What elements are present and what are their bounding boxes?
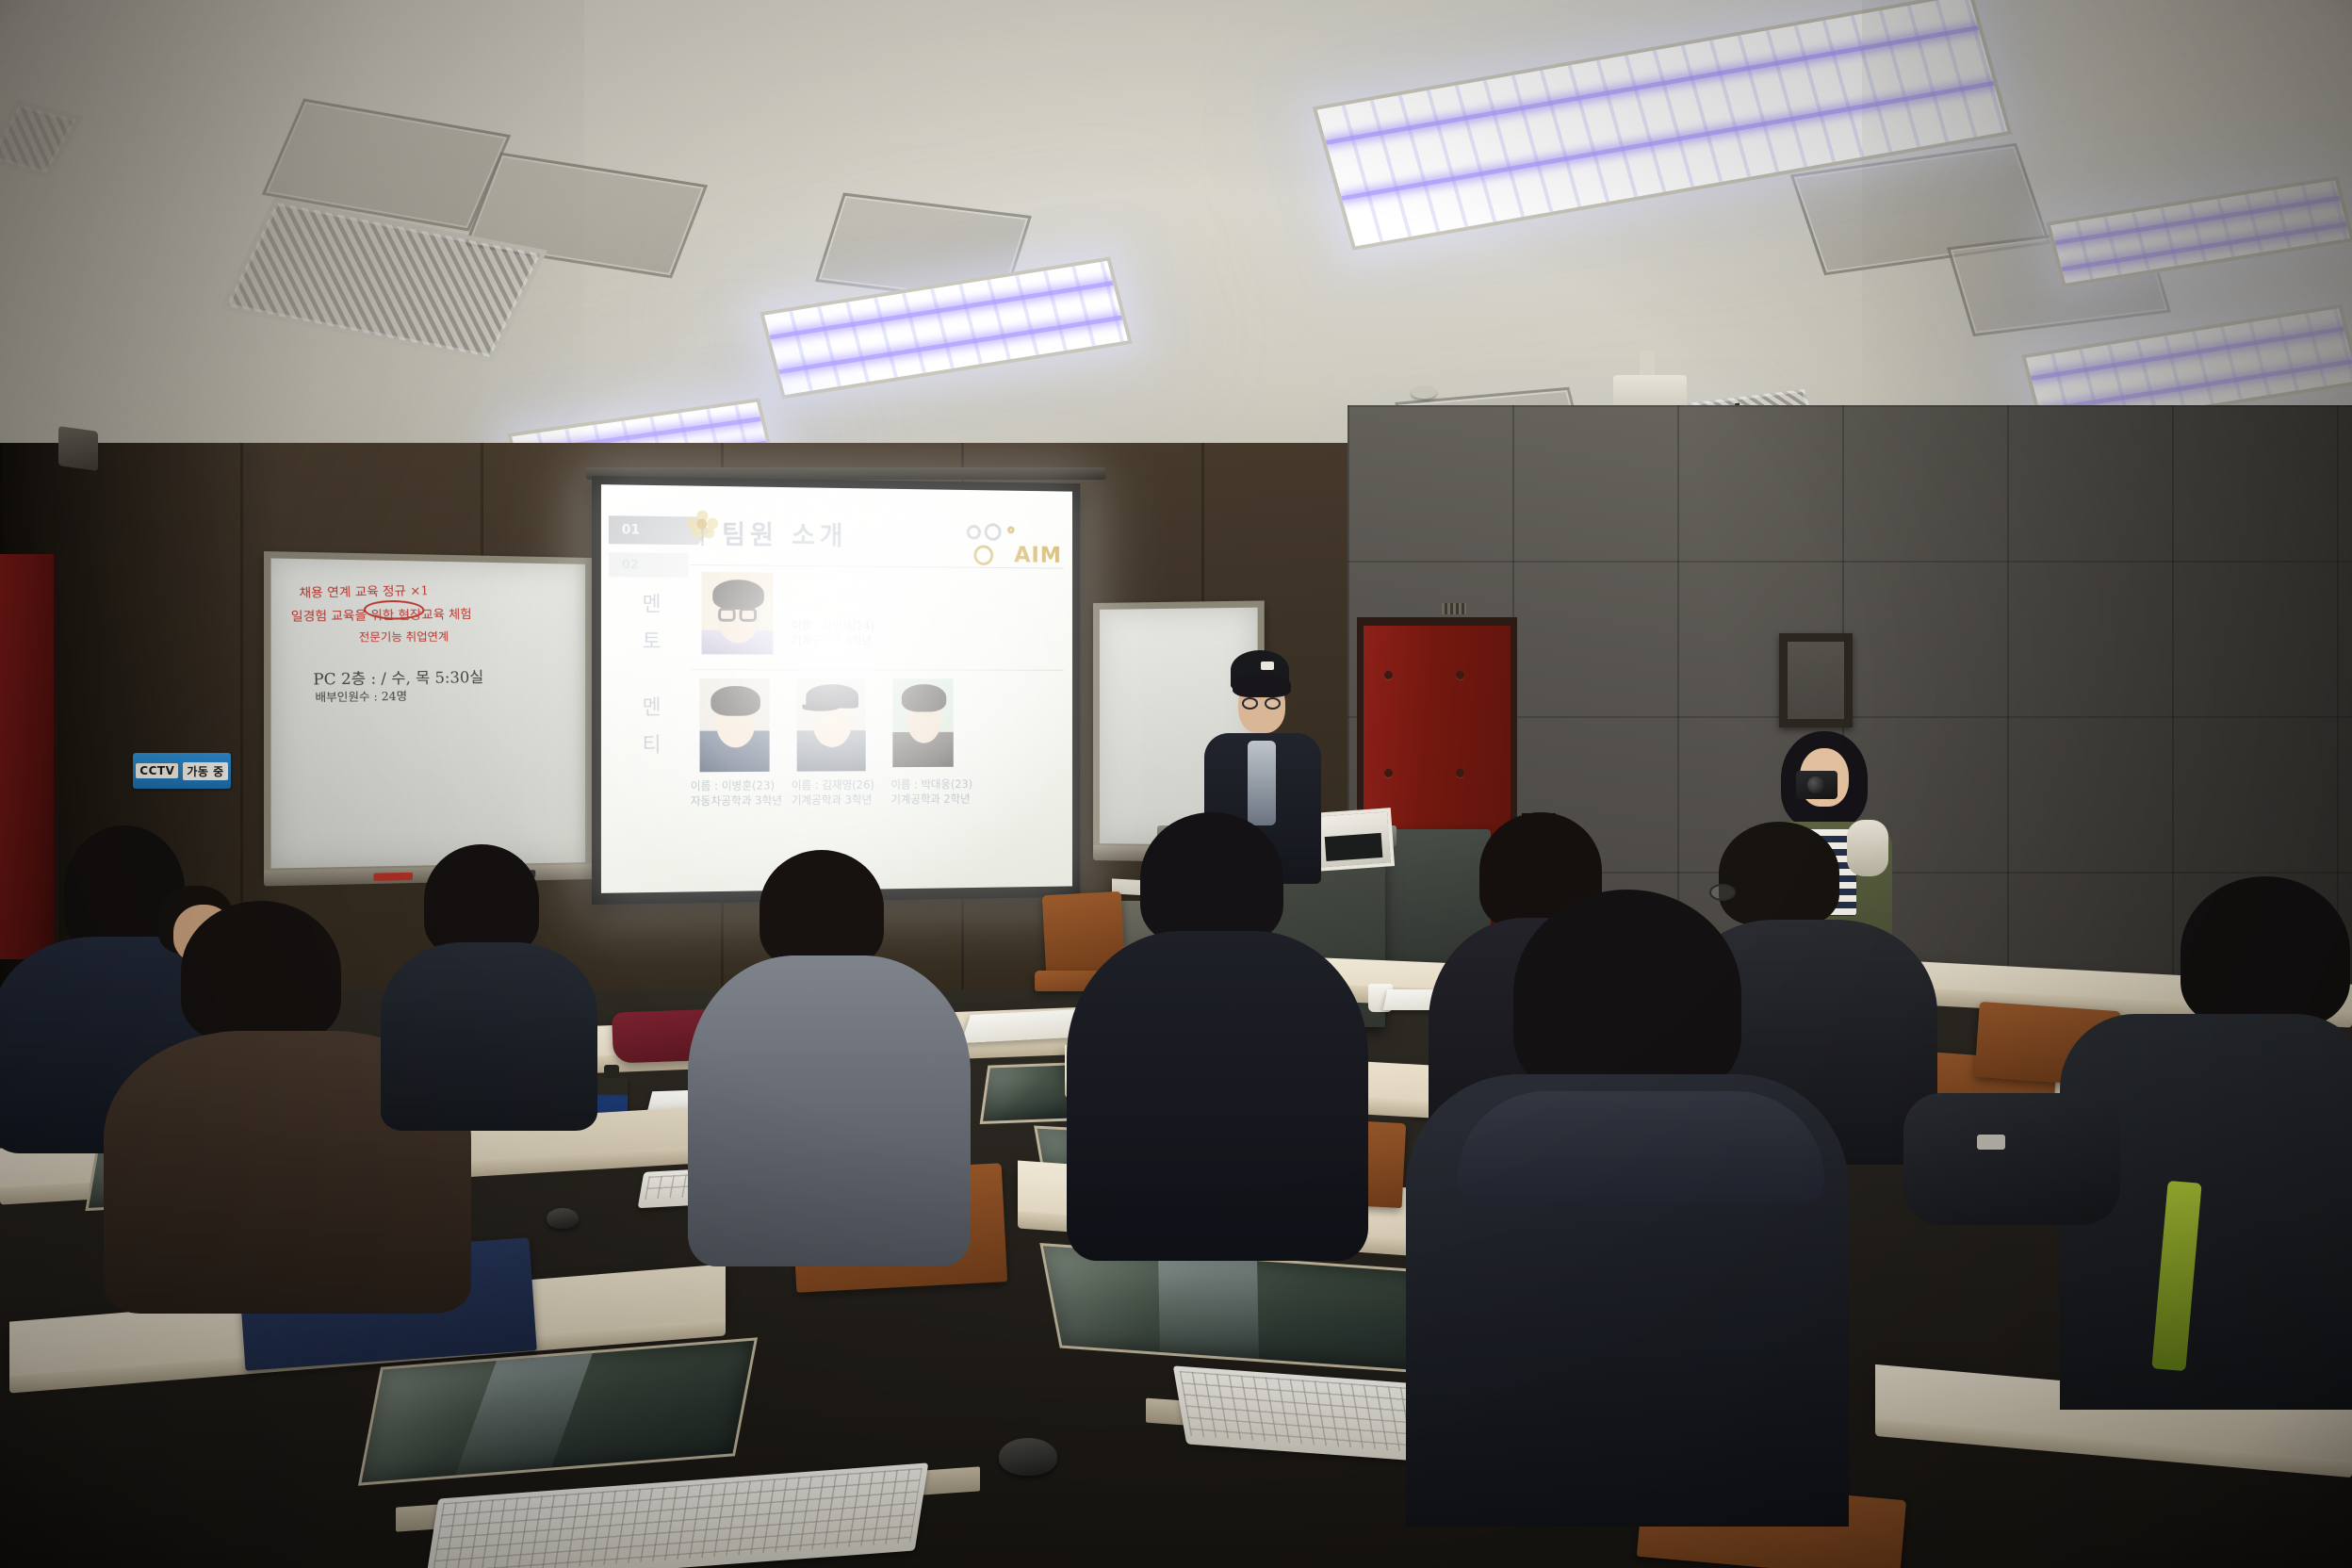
- slide-section-number: 01: [622, 522, 640, 537]
- mentor-dept: 기계공학과 3학년: [792, 634, 874, 649]
- mentee-name-1: 이름 : 이병훈(23): [691, 779, 782, 794]
- presenter-inner-shirt: [1248, 741, 1276, 825]
- mentee-name-3: 이름 : 박대웅(23): [890, 777, 972, 792]
- whiteboard-red-line-3: 전문기능 취업연계: [359, 629, 449, 645]
- door-left[interactable]: [0, 554, 58, 959]
- audience-hair: [759, 850, 884, 967]
- mentor-photo: [702, 572, 774, 654]
- slide-section-number-next: 02: [622, 558, 639, 572]
- audience-torso: [1067, 931, 1368, 1261]
- beanie-logo-tag: [1261, 661, 1274, 670]
- slide-section-tab: 01: [609, 515, 698, 545]
- cctv-sign: CCTV 가동 중: [133, 753, 231, 789]
- audience-arm: [1903, 1093, 2120, 1225]
- classroom-photo: CCTV 가동 중 채용 연계 교육 정규 ×1 일경험 교육을 위한 현장교육…: [0, 0, 2352, 1568]
- glasses-icon: [1709, 884, 1736, 901]
- whiteboard-dark-line-2: 배부인원수 : 24명: [315, 688, 407, 706]
- whiteboard-red-line-1: 채용 연계 교육 정규 ×1: [299, 580, 429, 601]
- slide-title: 팀원 소개: [722, 514, 847, 553]
- slide-section-tab-next: 02: [609, 552, 689, 578]
- mentee-name-2: 이름 : 김재영(26): [792, 778, 874, 793]
- mentee-caption-2: 이름 : 김재영(26) 기계공학과 3학년: [792, 778, 874, 808]
- audience-hair: [424, 844, 539, 955]
- whiteboard-left: 채용 연계 교육 정규 ×1 일경험 교육을 위한 현장교육 체험 전문기능 취…: [264, 551, 592, 875]
- steering-wheel-icon: [973, 545, 993, 565]
- aim-logo-text: AIM: [1014, 542, 1062, 568]
- audience-hair: [181, 901, 341, 1042]
- audience-hair: [1719, 822, 1839, 925]
- wall-speaker: [58, 426, 98, 471]
- mentee-photo-3: [892, 678, 953, 767]
- audience-torso: [688, 955, 971, 1266]
- mentor-name: 이름 : 강민재(24): [792, 619, 874, 634]
- audience-hair: [1513, 890, 1741, 1099]
- audience-hair: [1140, 812, 1283, 944]
- cctv-sign-label-left: CCTV: [136, 763, 178, 778]
- flower-icon: [687, 510, 718, 547]
- audience-torso: [381, 942, 597, 1131]
- mentee-caption-1: 이름 : 이병훈(23) 자동차공학과 3학년: [691, 779, 782, 809]
- camera[interactable]: [1796, 771, 1837, 799]
- photographer-fur-collar: [1847, 820, 1888, 876]
- mentee-photo-1: [700, 678, 770, 772]
- mouse[interactable]: [547, 1208, 579, 1229]
- smoke-detector-icon: [1412, 386, 1436, 399]
- jacket-hood: [1457, 1091, 1824, 1204]
- glasses-icon: [1265, 697, 1281, 710]
- wall-picture-frame: [1779, 633, 1853, 727]
- whiteboard-dark-line-1: PC 2층 : / 수, 목 5:30실: [313, 664, 483, 690]
- roster-label-mentor: 멘 토: [643, 586, 679, 661]
- mentee-caption-3: 이름 : 박대웅(23) 기계공학과 2학년: [890, 777, 972, 808]
- roster-label-mentee: 멘 티: [643, 690, 679, 764]
- mentee-photo-2: [797, 678, 866, 772]
- podium-monitor: [1312, 808, 1395, 872]
- door-hinge: [1442, 603, 1466, 614]
- slide-content: 01 02 팀원 소개: [601, 484, 1072, 893]
- projection-screen-surface: 01 02 팀원 소개: [601, 484, 1072, 893]
- cctv-sign-label-right: 가동 중: [183, 762, 227, 780]
- mouse[interactable]: [999, 1438, 1057, 1476]
- aim-logo: AIM: [965, 523, 1062, 568]
- whiteboard-marker[interactable]: [373, 873, 413, 881]
- presenter-hair: [1233, 673, 1291, 697]
- mentee-dept-3: 기계공학과 2학년: [890, 792, 972, 808]
- glasses-icon: [1242, 697, 1258, 710]
- mentor-caption: 이름 : 강민재(24) 기계공학과 3학년: [792, 619, 874, 648]
- wristwatch: [1977, 1135, 2005, 1150]
- slide-divider: [691, 669, 1064, 671]
- projection-screen: 01 02 팀원 소개: [592, 476, 1080, 905]
- mentee-dept-1: 자동차공학과 3학년: [691, 793, 782, 808]
- mentee-dept-2: 기계공학과 3학년: [792, 793, 874, 808]
- audience-hair: [2180, 876, 2350, 1027]
